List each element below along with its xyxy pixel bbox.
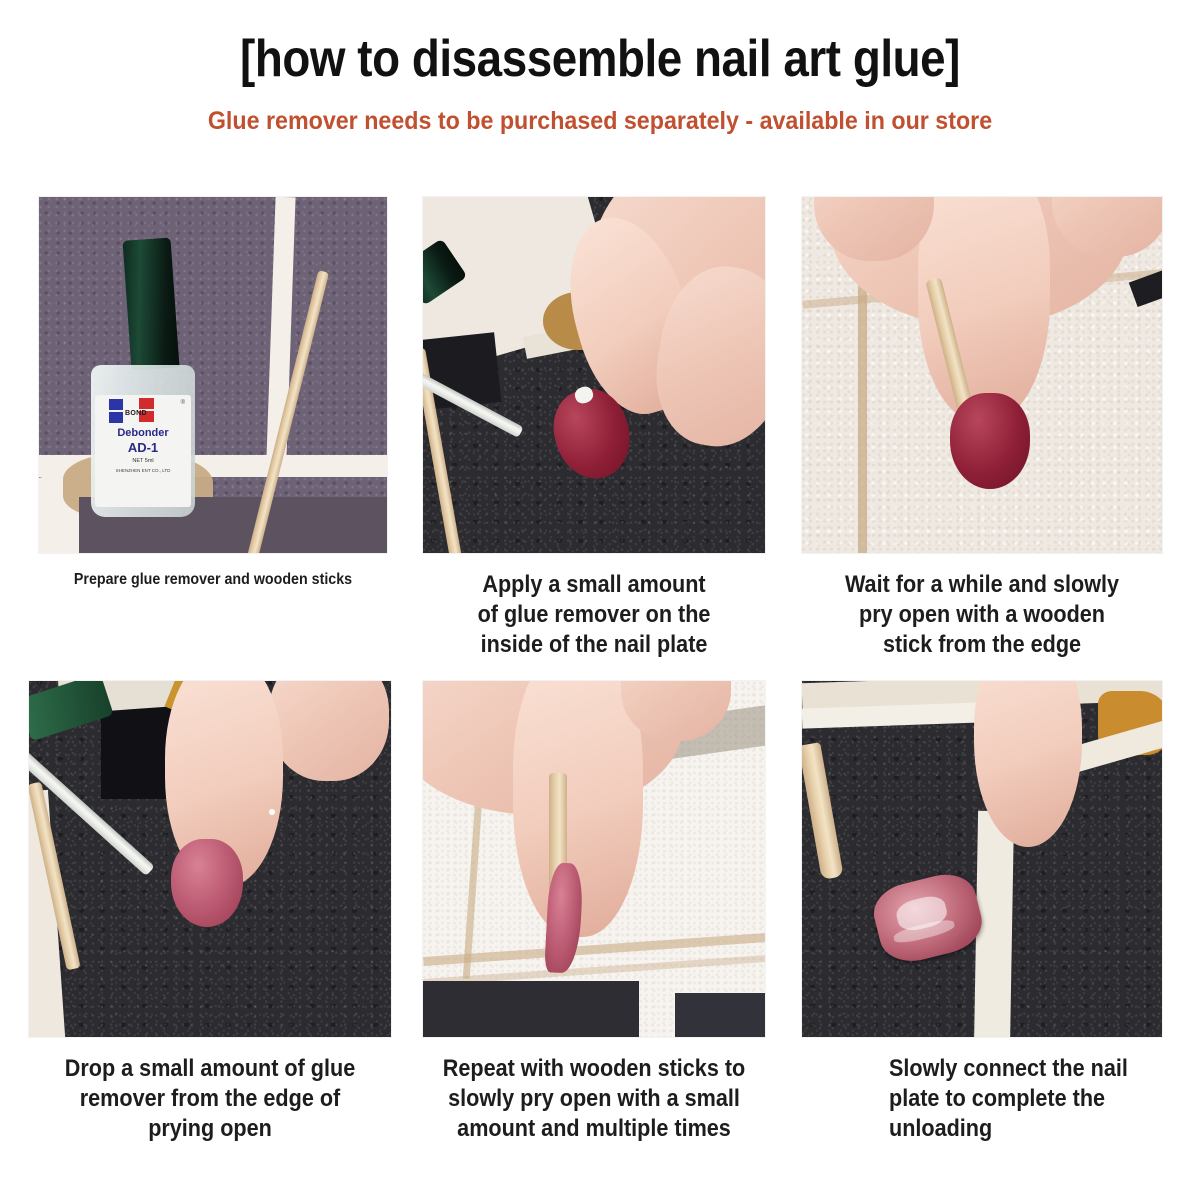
steps-grid: BOND ® Debonder AD-1 NET 5ml SHENZHEN EN…	[0, 196, 1200, 1150]
highlight-dot	[269, 809, 275, 815]
infographic-page: [how to disassemble nail art glue] Glue …	[0, 0, 1200, 1200]
bottle-brand-text: BOND	[125, 410, 147, 417]
caption-line: pry open with a wooden	[819, 600, 1145, 630]
step-image-6	[801, 680, 1163, 1038]
step-caption-3: Wait for a while and slowly pry open wit…	[819, 570, 1145, 661]
caption-line: Drop a small amount of glue	[46, 1054, 374, 1084]
steps-row-top: BOND ® Debonder AD-1 NET 5ml SHENZHEN EN…	[0, 196, 1200, 672]
bottle-label: BOND ® Debonder AD-1 NET 5ml SHENZHEN EN…	[95, 395, 191, 507]
logo-square-blue-bottom	[109, 412, 123, 423]
caption-line: slowly pry open with a small	[439, 1084, 749, 1114]
tan-woven-line-vertical	[858, 277, 867, 554]
page-subtitle: Glue remover needs to be purchased separ…	[42, 106, 1158, 136]
step-card-6: Slowly connect the nail plate to complet…	[801, 680, 1163, 1038]
dark-block-bottom-right	[675, 993, 766, 1038]
step-caption-6: Slowly connect the nail plate to complet…	[889, 1054, 1150, 1145]
dark-red-nail	[950, 393, 1030, 489]
logo-square-red-top	[139, 398, 154, 409]
caption-line: prying open	[46, 1114, 374, 1144]
caption-line: of glue remover on the	[439, 600, 749, 630]
step-card-3: Wait for a while and slowly pry open wit…	[801, 196, 1163, 554]
page-title: [how to disassemble nail art glue]	[72, 30, 1128, 90]
step-image-4	[28, 680, 392, 1038]
bottle-product-name: Debonder	[95, 427, 191, 439]
step-card-4: Drop a small amount of glue remover from…	[28, 680, 392, 1038]
registered-mark-icon: ®	[181, 400, 185, 406]
step-card-2: Apply a small amount of glue remover on …	[422, 196, 766, 554]
bottle-company: SHENZHEN ENT CO., LTD	[95, 468, 191, 473]
step-card-1: BOND ® Debonder AD-1 NET 5ml SHENZHEN EN…	[38, 196, 388, 554]
caption-line: unloading	[889, 1114, 1150, 1144]
step-caption-4: Drop a small amount of glue remover from…	[46, 1054, 374, 1145]
step-card-5: Repeat with wooden sticks to slowly pry …	[422, 680, 766, 1038]
caption-line: Apply a small amount	[439, 570, 749, 600]
step-image-2	[422, 196, 766, 554]
step-caption-1: Prepare glue remover and wooden sticks	[52, 570, 374, 590]
logo-square-blue-top	[109, 399, 123, 410]
caption-line: remover from the edge of	[46, 1084, 374, 1114]
caption-line: Slowly connect the nail	[889, 1054, 1150, 1084]
steps-row-bottom: Drop a small amount of glue remover from…	[0, 680, 1200, 1150]
dark-block-bottom-left	[422, 981, 639, 1038]
bottle-model: AD-1	[95, 440, 191, 455]
caption-line: amount and multiple times	[439, 1114, 749, 1144]
pink-nail	[171, 839, 243, 927]
bottle-cap	[123, 237, 180, 370]
step-caption-2: Apply a small amount of glue remover on …	[439, 570, 749, 661]
caption-line: stick from the edge	[819, 630, 1145, 660]
header: [how to disassemble nail art glue] Glue …	[0, 0, 1200, 136]
bottle-net-volume: NET 5ml	[95, 458, 191, 464]
caption-line: Wait for a while and slowly	[819, 570, 1145, 600]
caption-line: Repeat with wooden sticks to	[439, 1054, 749, 1084]
step-caption-5: Repeat with wooden sticks to slowly pry …	[439, 1054, 749, 1145]
caption-line: inside of the nail plate	[439, 630, 749, 660]
step-image-5	[422, 680, 766, 1038]
caption-line: plate to complete the	[889, 1084, 1150, 1114]
step-image-3	[801, 196, 1163, 554]
step-image-1: BOND ® Debonder AD-1 NET 5ml SHENZHEN EN…	[38, 196, 388, 554]
